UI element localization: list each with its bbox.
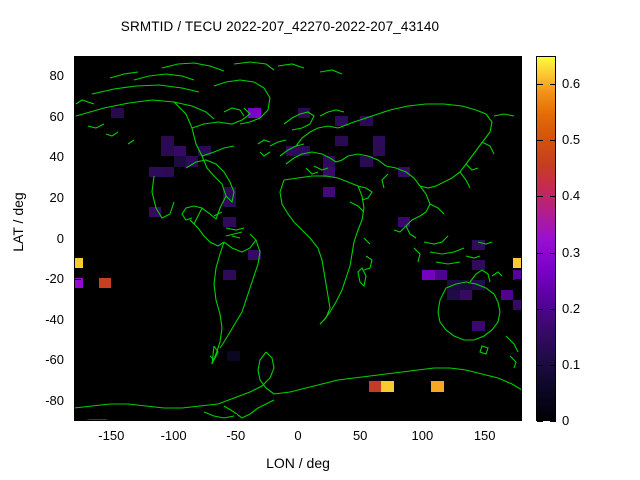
colorbar-tick-label: 0.5 (562, 132, 580, 147)
y-tick-mark (74, 157, 81, 158)
coastline-overlay (74, 56, 522, 421)
y-tick-mark (74, 360, 81, 361)
x-tick-mark (360, 414, 361, 421)
x-tick-label: 150 (455, 428, 515, 443)
colorbar-tick-mark (550, 365, 556, 366)
x-axis-title: LON / deg (74, 455, 522, 471)
colorbar-tick-mark (550, 253, 556, 254)
x-tick-mark (236, 414, 237, 421)
x-tick-mark (298, 414, 299, 421)
y-tick-mark (74, 239, 81, 240)
y-tick-mark (515, 157, 522, 158)
colorbar-tick-mark (537, 421, 543, 422)
y-tick-label: 80 (0, 68, 64, 83)
x-tick-mark (422, 414, 423, 421)
colorbar-tick-mark (537, 140, 543, 141)
colorbar-tick-mark (550, 196, 556, 197)
y-tick-mark (515, 320, 522, 321)
x-tick-mark (236, 56, 237, 63)
colorbar[interactable] (536, 56, 556, 421)
colorbar-tick-mark (550, 84, 556, 85)
x-tick-label: 100 (392, 428, 452, 443)
x-tick-label: 0 (268, 428, 328, 443)
y-tick-mark (74, 401, 81, 402)
x-tick-mark (485, 414, 486, 421)
y-tick-label: -60 (0, 352, 64, 367)
x-tick-label: 50 (330, 428, 390, 443)
x-tick-label: -150 (81, 428, 141, 443)
colorbar-tick-mark (537, 196, 543, 197)
x-tick-mark (174, 414, 175, 421)
y-tick-mark (515, 198, 522, 199)
colorbar-tick-label: 0.4 (562, 188, 580, 203)
x-tick-mark (360, 56, 361, 63)
y-tick-mark (74, 279, 81, 280)
colorbar-tick-label: 0.2 (562, 301, 580, 316)
colorbar-tick-label: 0.6 (562, 76, 580, 91)
x-tick-mark (298, 56, 299, 63)
x-tick-label: -100 (144, 428, 204, 443)
x-tick-mark (111, 56, 112, 63)
colorbar-tick-mark (537, 253, 543, 254)
y-axis-title: LAT / deg (10, 162, 26, 282)
x-tick-mark (485, 56, 486, 63)
y-tick-mark (515, 279, 522, 280)
y-tick-mark (74, 198, 81, 199)
y-tick-label: -40 (0, 312, 64, 327)
y-tick-mark (74, 320, 81, 321)
colorbar-tick-mark (537, 365, 543, 366)
x-tick-label: -50 (206, 428, 266, 443)
x-tick-mark (422, 56, 423, 63)
chart-title: SRMTID / TECU 2022-207_42270-2022-207_43… (0, 19, 560, 34)
y-tick-mark (515, 239, 522, 240)
y-tick-mark (515, 117, 522, 118)
colorbar-tick-label: 0.1 (562, 357, 580, 372)
y-tick-label: 60 (0, 109, 64, 124)
y-tick-mark (515, 76, 522, 77)
colorbar-tick-mark (550, 140, 556, 141)
y-tick-mark (515, 360, 522, 361)
x-tick-mark (174, 56, 175, 63)
map-plot-area[interactable] (74, 56, 522, 421)
colorbar-tick-mark (537, 309, 543, 310)
x-tick-mark (111, 414, 112, 421)
colorbar-tick-mark (537, 84, 543, 85)
y-tick-label: -80 (0, 393, 64, 408)
y-tick-mark (515, 401, 522, 402)
colorbar-tick-mark (550, 421, 556, 422)
colorbar-tick-mark (550, 309, 556, 310)
y-tick-mark (74, 117, 81, 118)
colorbar-tick-label: 0.3 (562, 245, 580, 260)
figure-root: SRMTID / TECU 2022-207_42270-2022-207_43… (0, 0, 640, 480)
colorbar-tick-label: 0 (562, 413, 569, 428)
y-tick-mark (74, 76, 81, 77)
